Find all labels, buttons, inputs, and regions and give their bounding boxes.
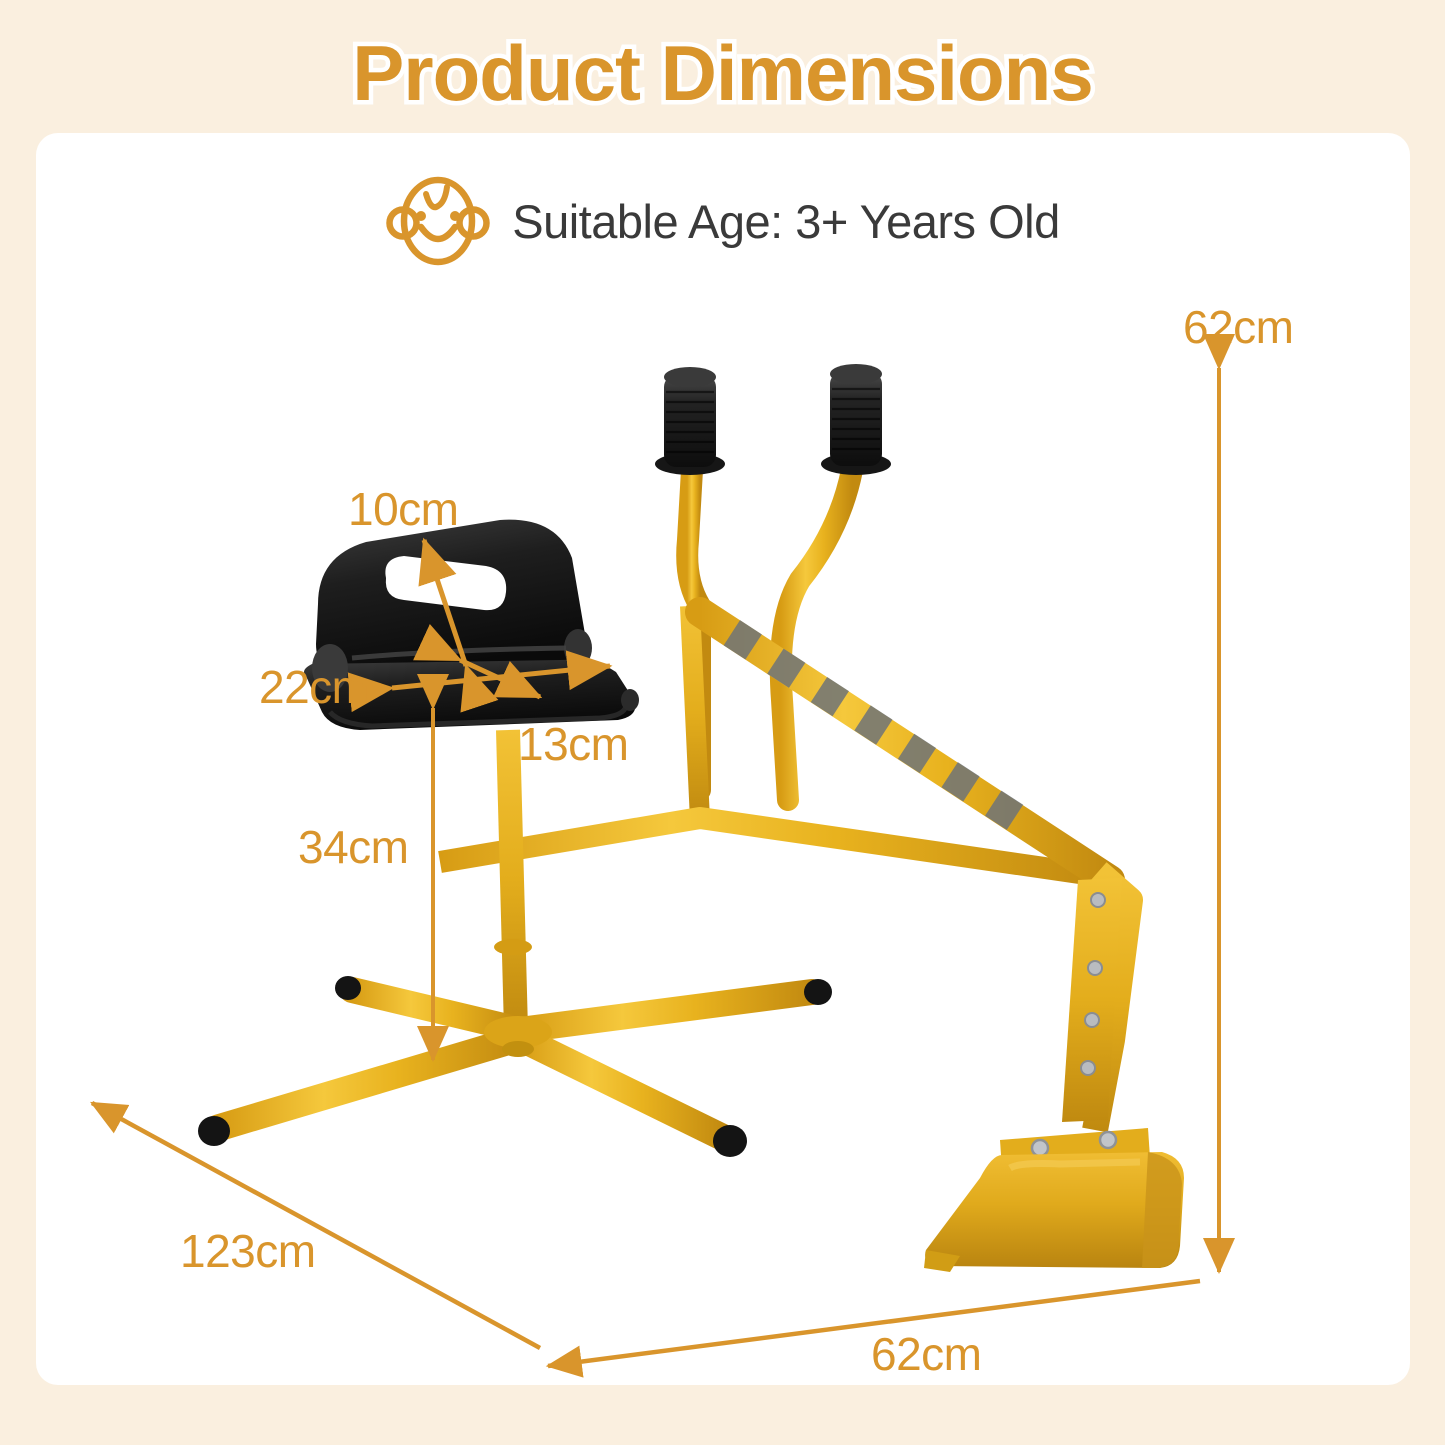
baby-face-icon: [386, 175, 490, 267]
suitable-age-badge: Suitable Age: 3+ Years Old: [36, 175, 1410, 267]
dimension-label-overall-height: 62cm: [1183, 300, 1293, 354]
page-title-wrap: Product Dimensions: [0, 28, 1445, 119]
page-title: Product Dimensions: [352, 28, 1092, 119]
baby-eye-right: [450, 211, 460, 221]
dimension-label-overall-length: 123cm: [180, 1224, 316, 1278]
dimension-label-backrest-height: 10cm: [348, 482, 458, 536]
dimension-label-overall-width: 62cm: [871, 1327, 981, 1381]
suitable-age-text: Suitable Age: 3+ Years Old: [512, 194, 1060, 249]
dimension-label-seat-depth: 13cm: [518, 717, 628, 771]
dimension-label-seat-width: 22cm: [259, 660, 369, 714]
baby-eye-left: [416, 211, 426, 221]
dimension-label-seat-height: 34cm: [298, 820, 408, 874]
